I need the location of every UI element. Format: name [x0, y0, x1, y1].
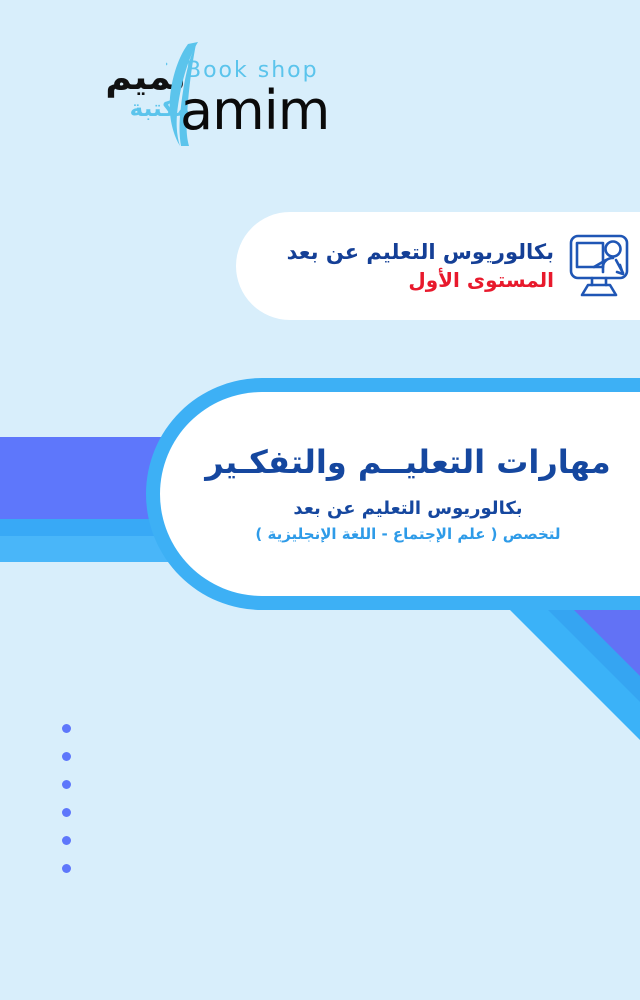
decor-diagonal-cyan-light — [300, 600, 640, 1000]
logo-english-brand: amim — [180, 84, 329, 138]
level-badge-level: المستوى الأول — [287, 267, 554, 294]
course-title: مهارات التعليــم والتفكـير — [205, 443, 610, 481]
decor-dot — [62, 864, 71, 873]
decor-dots-column — [62, 724, 71, 892]
brand-logo: تميم مكتبة Book shop amim — [18, 42, 318, 152]
decor-dot — [62, 752, 71, 761]
distance-learning-monitor-icon — [564, 233, 634, 299]
decor-dot — [62, 808, 71, 817]
level-badge: بكالوريوس التعليم عن بعد المستوى الأول — [236, 212, 640, 320]
course-degree: بكالوريوس التعليم عن بعد — [293, 497, 522, 520]
decor-diagonal-stripes — [0, 600, 640, 1000]
decor-dot — [62, 836, 71, 845]
decor-dot — [62, 780, 71, 789]
decor-dot — [62, 724, 71, 733]
course-title-card: مهارات التعليــم والتفكـير بكالوريوس الت… — [146, 378, 640, 610]
level-badge-degree: بكالوريوس التعليم عن بعد — [287, 238, 554, 266]
course-specialization: لتخصص ( علم الإجتماع - اللغة الإنجليزية … — [255, 524, 560, 545]
book-cover-page: تميم مكتبة Book shop amim بكالوريوس التع… — [0, 0, 640, 1000]
level-badge-text: بكالوريوس التعليم عن بعد المستوى الأول — [287, 238, 554, 293]
